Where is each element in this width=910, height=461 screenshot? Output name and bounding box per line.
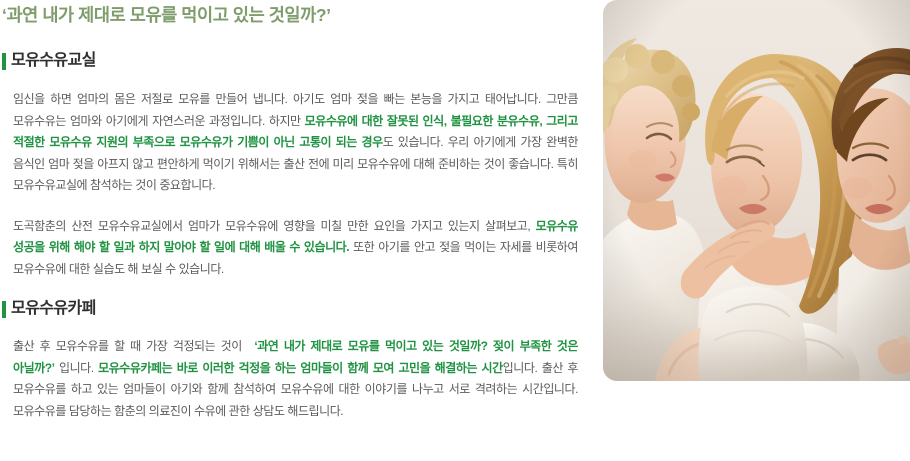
section-heading-breastfeeding-class: 모유수유교실 — [0, 50, 596, 72]
section-heading-label: 모유수유교실 — [11, 52, 96, 69]
text-run-highlight: 모유수유카페는 바로 이러한 걱정을 하는 엄마들이 함께 모여 고민을 해결하… — [98, 361, 503, 375]
section-breastfeeding-cafe: 모유수유카페 출산 후 모유수유를 할 때 가장 걱정되는 것이 ‘과연 내가 … — [0, 298, 596, 422]
paragraph-class-intro: 임신을 하면 엄마의 몸은 저절로 모유를 만들어 냅니다. 아기도 엄마 젖을… — [0, 89, 596, 197]
section-heading-breastfeeding-cafe: 모유수유카페 — [0, 298, 596, 320]
article-content-column: ‘과연 내가 제대로 모유를 먹이고 있는 것일까?’ 모유수유교실 임신을 하… — [0, 0, 596, 461]
paragraph-class-details: 도곡함춘의 산전 모유수유교실에서 엄마가 모유수유에 영향을 미칠 만한 요인… — [0, 216, 596, 281]
breastfeeding-mother-and-children-photo — [603, 0, 910, 381]
text-run: 도곡함춘의 산전 모유수유교실에서 엄마가 모유수유에 영향을 미칠 만한 요인… — [13, 219, 536, 233]
paragraph-cafe-intro: 출산 후 모유수유를 할 때 가장 걱정되는 것이 ‘과연 내가 제대로 모유를… — [0, 336, 596, 422]
heading-accent-bar-icon — [2, 53, 6, 70]
section-heading-label: 모유수유카페 — [11, 300, 96, 317]
text-run: 입니다. — [55, 361, 99, 375]
text-run: 출산 후 모유수유를 할 때 가장 걱정되는 것이 — [13, 339, 247, 353]
page-quote-title: ‘과연 내가 제대로 모유를 먹이고 있는 것일까?’ — [2, 2, 331, 27]
section-breastfeeding-class: 모유수유교실 임신을 하면 엄마의 몸은 저절로 모유를 만들어 냅니다. 아기… — [0, 50, 596, 280]
heading-accent-bar-icon — [2, 301, 6, 318]
